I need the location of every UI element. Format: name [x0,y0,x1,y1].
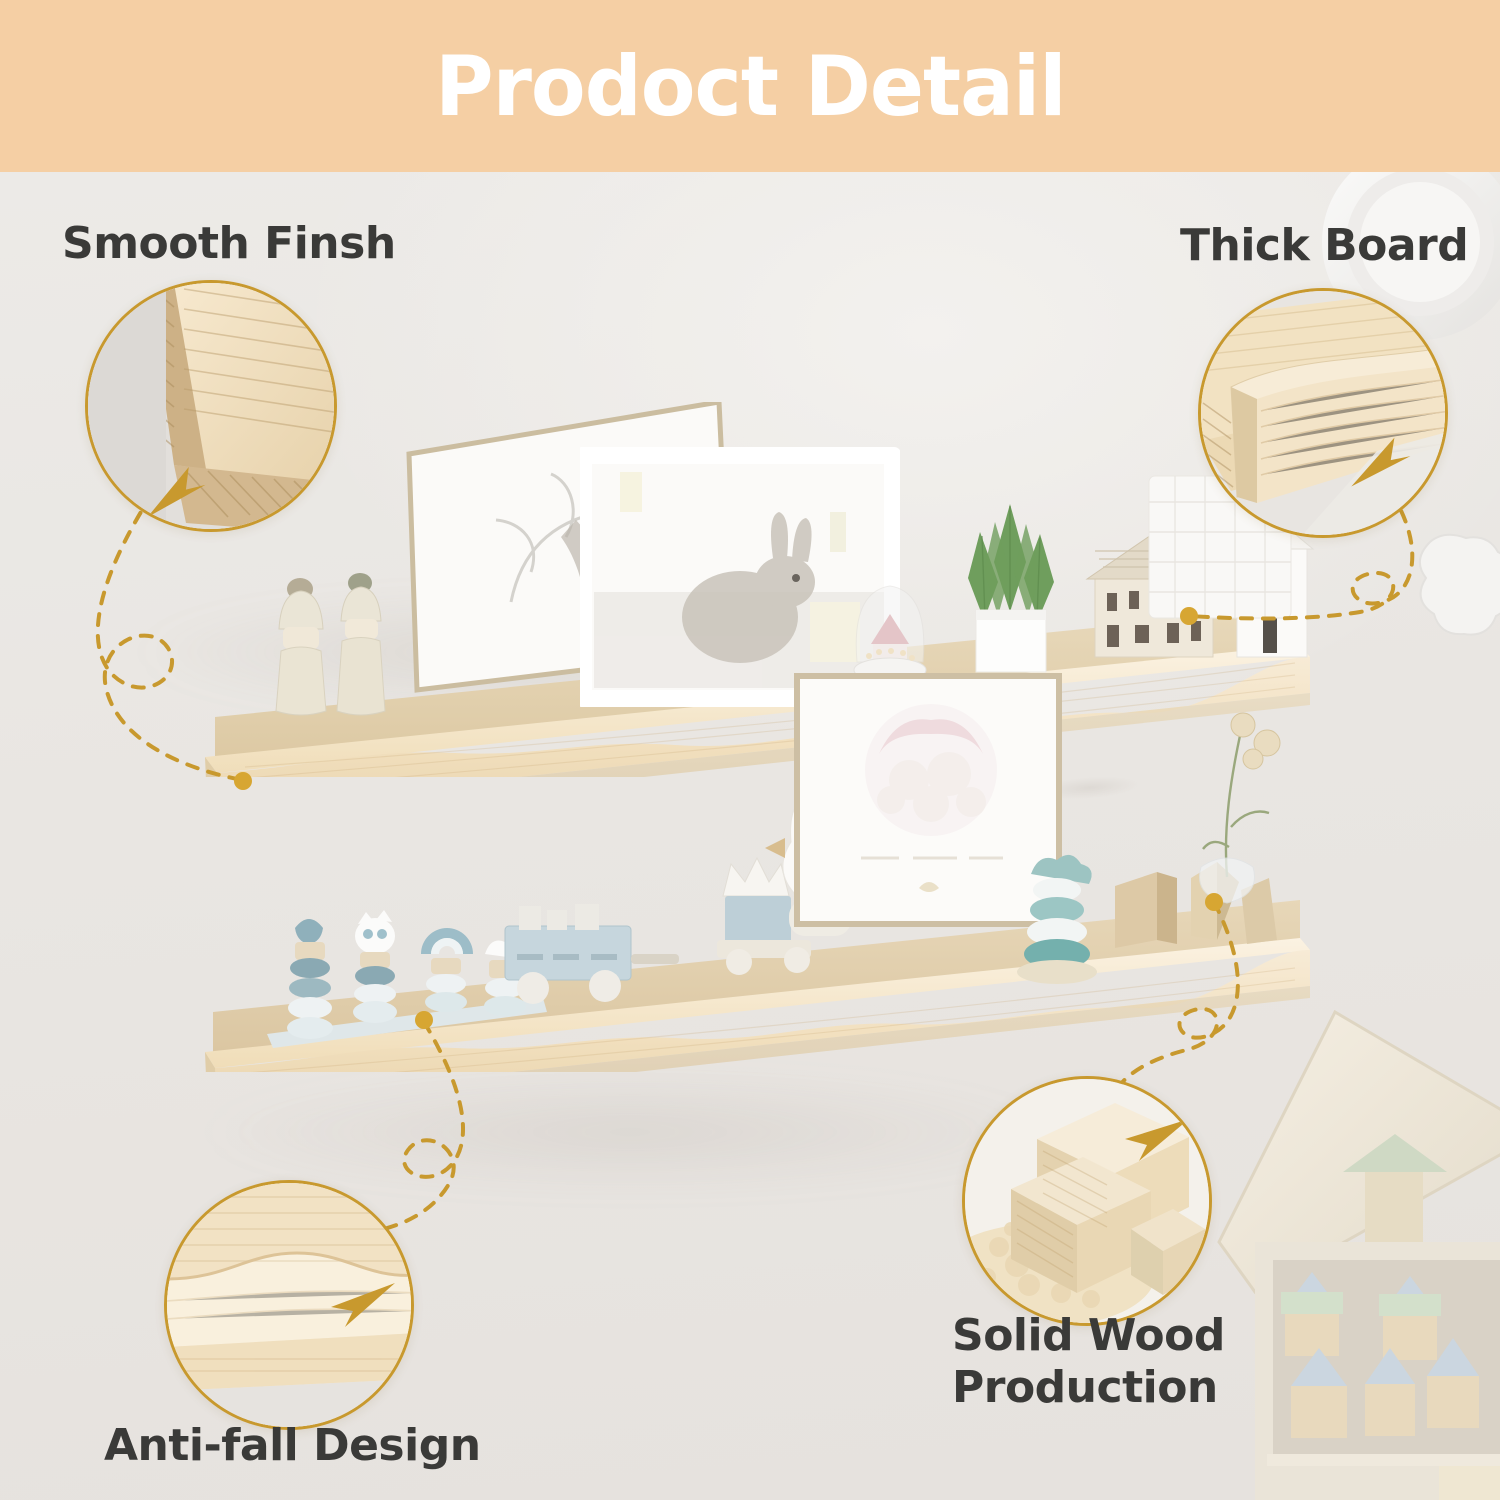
upper-shelf [205,597,1310,777]
thick-board-arrow [1343,433,1423,493]
smooth-finish-arrow [136,461,216,521]
callout-anti-fall[interactable] [164,1180,414,1430]
label-anti-fall: Anti-fall Design [104,1420,481,1472]
wall-shadow [180,1072,1080,1192]
callout-thick-board[interactable] [1198,288,1448,538]
solid-wood-arrow [1105,1105,1195,1165]
wooden-dollhouse [1215,992,1500,1500]
callout-solid-wood[interactable] [962,1076,1212,1326]
callout-smooth-finish[interactable] [85,280,337,532]
page-title: Prodoct Detail [435,45,1066,128]
label-thick-board: Thick Board [1180,220,1468,272]
wooden-train-wagon [495,892,725,1022]
dried-flower-vase [1157,707,1297,947]
knit-doll-pair [265,567,405,747]
anti-fall-arrow [313,1271,403,1331]
product-scene: Smooth Finsh Thick Board [0,172,1500,1500]
header-banner: Prodoct Detail [0,0,1500,172]
lower-shelf [205,822,1310,1072]
label-smooth-finish: Smooth Finsh [62,218,396,270]
label-solid-wood: Solid Wood Production [952,1310,1225,1414]
